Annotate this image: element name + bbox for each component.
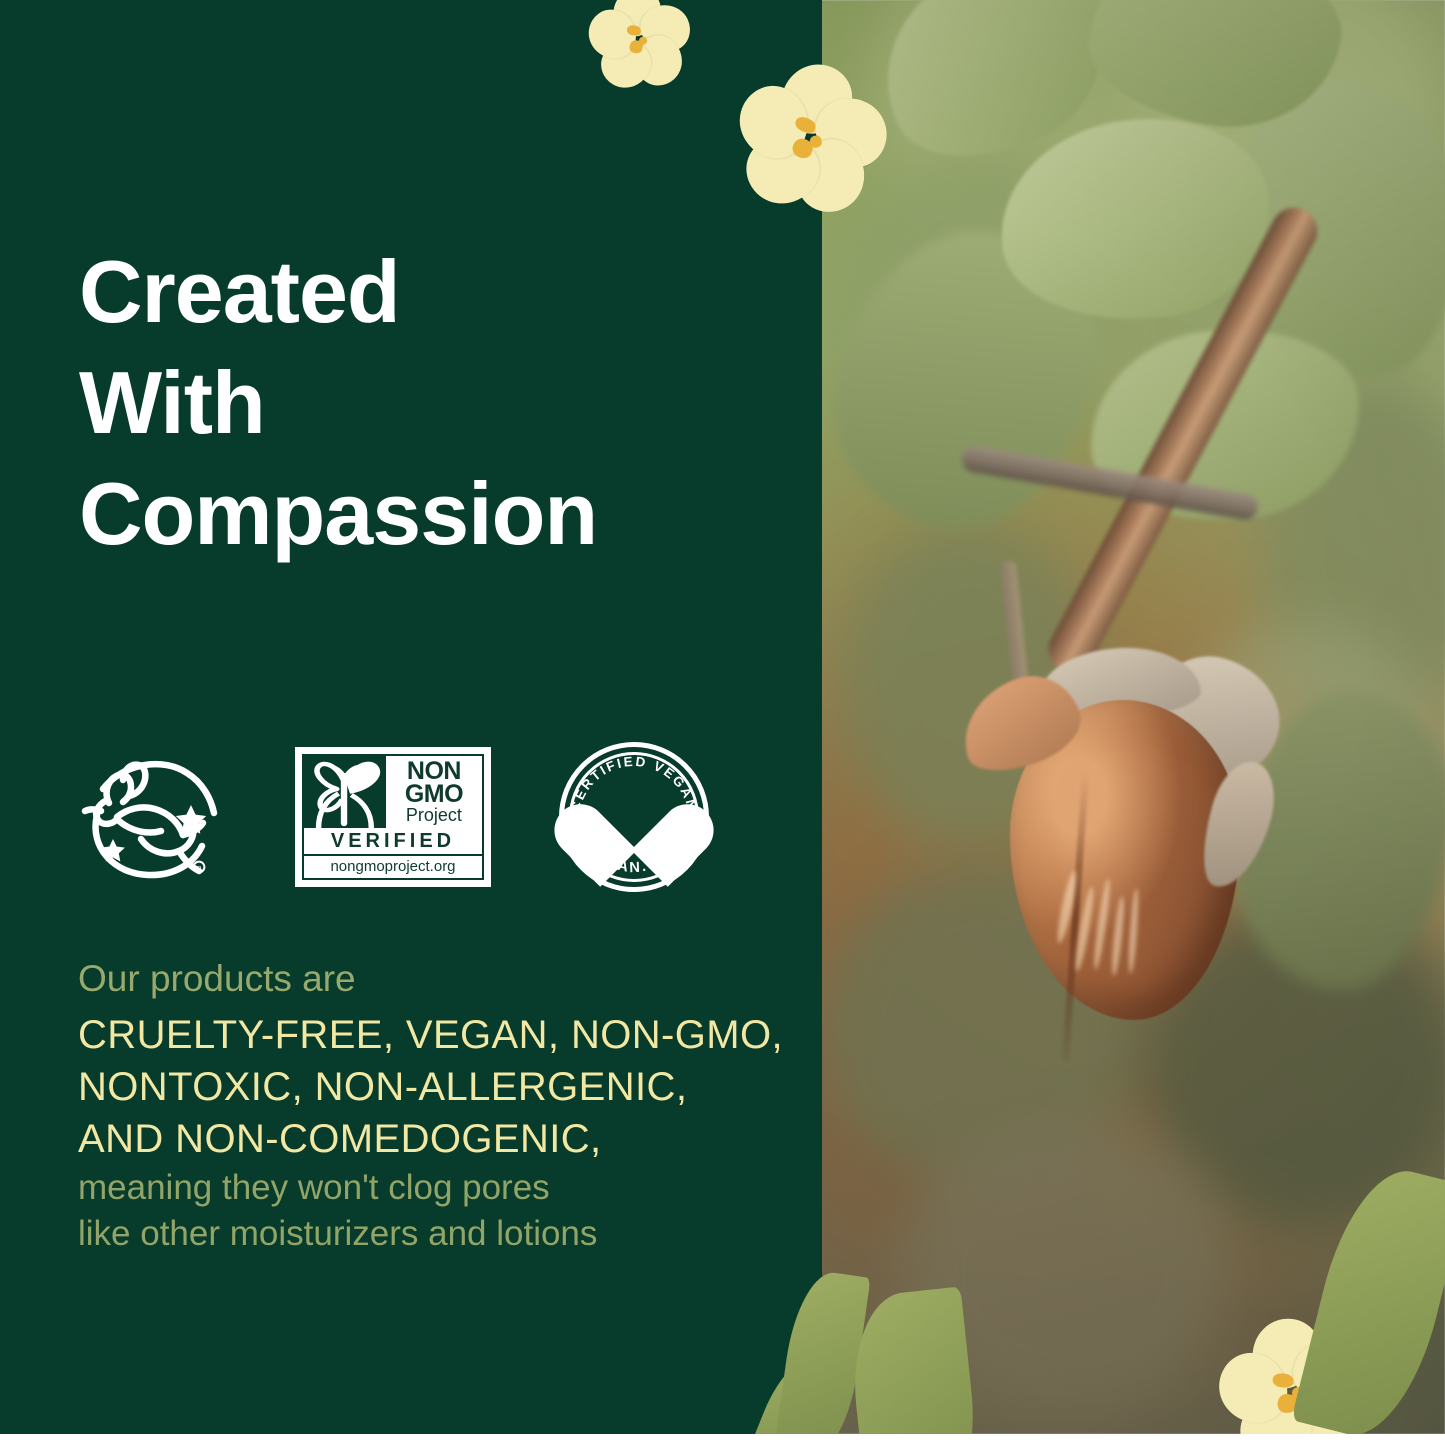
headline-line-1: Created: [79, 237, 597, 348]
bottom-white-strip: [0, 1434, 1445, 1444]
headline-line-3: Compassion: [79, 459, 597, 570]
headline-line-2: With: [79, 348, 597, 459]
flower-center: [626, 24, 654, 55]
certified-vegan-badge: V CERTIFIED VEGAN VEGAN.ORG: [559, 742, 709, 892]
non-gmo-word-project: Project: [406, 807, 462, 824]
flower-top-left: [583, 0, 697, 97]
claim-line-3: AND NON-COMEDOGENIC,: [78, 1113, 783, 1165]
flower-center: [790, 116, 832, 162]
claim-line-1: CRUELTY-FREE, VEGAN, NON-GMO,: [78, 1009, 783, 1061]
registered-mark-glyph: R: [196, 866, 201, 873]
non-gmo-project-badge: NON GMO Project VERIFIED nongmoproject.o…: [295, 747, 491, 887]
flower-top-right: [725, 54, 897, 226]
non-gmo-verified-label: VERIFIED: [304, 828, 482, 854]
butterfly-icon: [304, 756, 386, 828]
promo-banner: Created With Compassion: [0, 0, 1445, 1444]
non-gmo-word-gmo: GMO: [405, 783, 463, 806]
non-gmo-url: nongmoproject.org: [304, 854, 482, 878]
body-intro: Our products are: [78, 955, 783, 1003]
vegan-v-mark: V: [612, 776, 656, 842]
leaping-bunny-icon: R: [79, 747, 227, 887]
certification-badge-row: R: [79, 742, 709, 892]
explain-line-1: meaning they won't clog pores: [78, 1165, 783, 1211]
explain-line-2: like other moisturizers and lotions: [78, 1211, 783, 1257]
body-copy: Our products are CRUELTY-FREE, VEGAN, NO…: [78, 955, 783, 1256]
claim-line-2: NONTOXIC, NON-ALLERGENIC,: [78, 1061, 783, 1113]
page-title: Created With Compassion: [79, 237, 597, 570]
